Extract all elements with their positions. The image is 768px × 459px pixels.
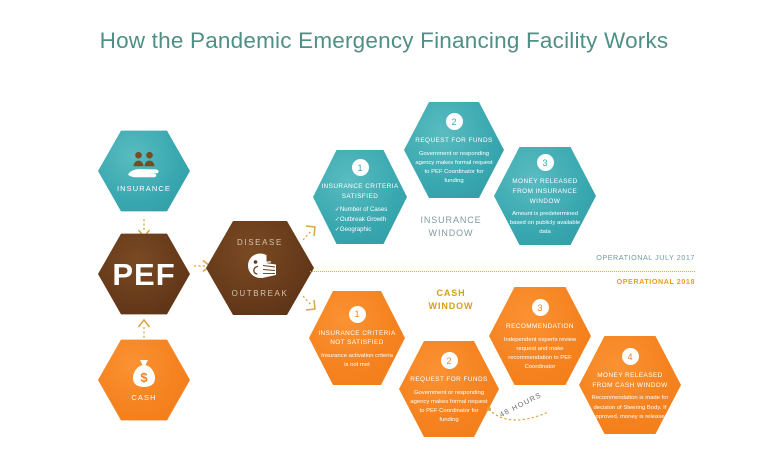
step-title: INSURANCE CRITERIA SATISFIED (313, 182, 406, 201)
face-mask-icon (240, 252, 280, 284)
input-hexagon-insurance[interactable]: INSURANCE (98, 129, 190, 213)
trigger-label-bottom: OUTBREAK (232, 289, 289, 298)
insurance-window-label: INSURANCE WINDOW (408, 214, 494, 240)
criteria-item-1: ✓Outbreak Growth (335, 215, 388, 225)
step-body: Government or responding agency makes fo… (404, 150, 504, 187)
insurance-window-label-line2: WINDOW (408, 227, 494, 240)
step-number-badge: 2 (446, 113, 463, 130)
input-hexagon-cash[interactable]: $ CASH (98, 338, 190, 422)
criteria-item-0: ✓Number of Cases (335, 205, 388, 215)
step-body: Recommendation is made for decision of S… (579, 394, 681, 421)
duration-label-48-hours: 48 HOURS (498, 390, 543, 419)
insurance-step-3[interactable]: 3 MONEY RELEASED FROM INSURANCE WINDOW A… (494, 145, 596, 247)
hands-holding-people-icon (124, 149, 164, 179)
cash-window-label-line2: WINDOW (408, 300, 494, 313)
step-number-badge: 1 (352, 159, 369, 176)
page-title: How the Pandemic Emergency Financing Fac… (0, 28, 768, 54)
input-hexagon-pef[interactable]: PEF (98, 232, 190, 316)
svg-text:$: $ (140, 370, 148, 385)
step-body: Government or responding agency makes fo… (399, 389, 499, 426)
cash-window-label-line1: CASH (408, 287, 494, 300)
cash-step-3[interactable]: 3 RECOMMENDATION Independent experts rev… (489, 285, 591, 387)
step-title: RECOMMENDATION (498, 322, 582, 332)
pef-wordmark: PEF (112, 259, 175, 290)
criteria-item-2: ✓Geographic (335, 225, 388, 235)
window-divider (310, 271, 695, 272)
step-title: MONEY RELEASED FROM CASH WINDOW (584, 371, 675, 390)
cash-step-2[interactable]: 2 REQUEST FOR FUNDS Government or respon… (399, 339, 499, 439)
insurance-criteria-list: ✓Number of Cases ✓Outbreak Growth ✓Geogr… (333, 205, 388, 235)
input-label-cash: CASH (131, 393, 156, 402)
insurance-step-2[interactable]: 2 REQUEST FOR FUNDS Government or respon… (404, 100, 504, 200)
step-number-badge: 1 (349, 306, 366, 323)
step-title: MONEY RELEASED FROM INSURANCE WINDOW (494, 177, 596, 206)
step-title: REQUEST FOR FUNDS (402, 375, 495, 385)
trigger-label-top: DISEASE (237, 238, 283, 247)
step-title: INSURANCE CRITERIA NOT SATISFIED (310, 329, 403, 348)
step-body: Amount is predetermined based on publicl… (494, 210, 596, 237)
infographic-canvas: How the Pandemic Emergency Financing Fac… (0, 0, 768, 459)
step-number-badge: 3 (532, 299, 549, 316)
operational-label-insurance: OPERATIONAL JULY 2017 (495, 253, 695, 262)
step-number-badge: 3 (537, 154, 554, 171)
step-title: REQUEST FOR FUNDS (407, 136, 500, 146)
operational-label-cash: OPERATIONAL 2018 (495, 277, 695, 286)
cash-step-4[interactable]: 4 MONEY RELEASED FROM CASH WINDOW Recomm… (579, 334, 681, 436)
input-label-insurance: INSURANCE (117, 184, 171, 193)
trigger-hexagon-disease-outbreak[interactable]: DISEASE OUTBREAK (206, 219, 314, 317)
cash-step-1[interactable]: 1 INSURANCE CRITERIA NOT SATISFIED Insur… (309, 289, 405, 387)
step-number-badge: 4 (622, 348, 639, 365)
insurance-window-label-line1: INSURANCE (408, 214, 494, 227)
cash-window-label: CASH WINDOW (408, 287, 494, 313)
step-number-badge: 2 (441, 352, 458, 369)
step-body: Independent experts review request and m… (489, 336, 591, 373)
step-body: Insurance activation criteria is not met (309, 352, 405, 370)
money-bag-icon: $ (131, 358, 157, 388)
insurance-step-1[interactable]: 1 INSURANCE CRITERIA SATISFIED ✓Number o… (313, 148, 407, 246)
